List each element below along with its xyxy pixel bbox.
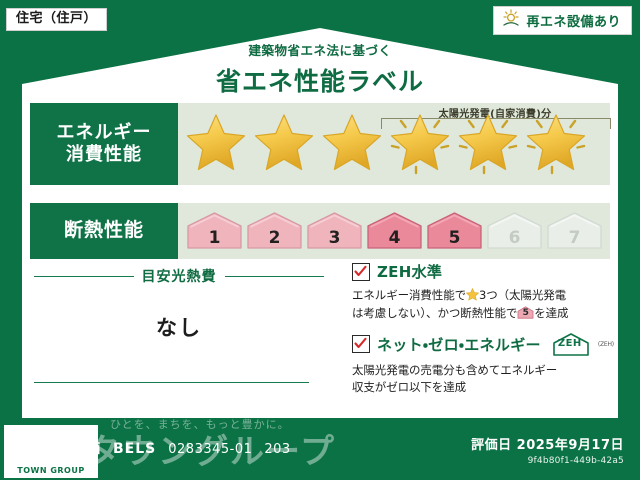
insulation-level-6: 6 <box>486 211 543 251</box>
zeh-desc-part2: は考慮しない）、かつ断熱性能で <box>352 306 517 320</box>
star-icon <box>184 112 248 176</box>
zeh-desc-part1: エネルギー消費性能で <box>352 288 466 302</box>
insulation-level-value: 4 <box>366 230 423 247</box>
footer-scheme: BELS <box>113 441 156 457</box>
renewable-badge-label: 再エネ設備あり <box>526 11 621 30</box>
building-type-tag: 住宅（住戸） <box>6 8 107 31</box>
checkbox-checked-icon[interactable] <box>352 335 370 353</box>
footer-unit-number: 203 <box>264 442 290 457</box>
net-zero-title: ネット・ゼロ・エネルギー <box>377 334 541 355</box>
footer-date-block: 評価日 2025年9月17日 9f4b80f1-449b-42a5 <box>471 434 624 466</box>
town-group-logo-text: TOWN GROUP <box>17 466 84 475</box>
rule-left <box>34 276 134 277</box>
energy-label-page: 住宅（住戸） 再エネ設備あり 建築物省エネ法に基づく 省エネ性能ラベル <box>0 0 640 480</box>
insulation-level-value: 7 <box>546 230 603 247</box>
insulation-level-value: 1 <box>186 230 243 247</box>
insulation-level-7: 7 <box>546 211 603 251</box>
certification-zeh-standard: ZEH水準 エネルギー消費性能で3つ（太陽光発電は考慮しない）、かつ断熱性能で5… <box>352 261 614 323</box>
energy-cost-heading-row: 目安光熱費 <box>34 266 324 286</box>
title-subtitle: 建築物省エネ法に基づく <box>0 40 640 59</box>
energy-performance-row: エネルギー 消費性能 太陽光発電(自家消費)分 <box>30 103 610 185</box>
insulation-level-value: 6 <box>486 230 543 247</box>
renewable-equipment-badge: 再エネ設備あり <box>493 6 632 35</box>
zeh-standard-heading: ZEH水準 <box>352 261 614 282</box>
insulation-level-value: 3 <box>306 230 363 247</box>
mini-house-value: 5 <box>517 307 534 321</box>
star-icon <box>320 112 384 176</box>
net-zero-heading: ネット・ゼロ・エネルギー ZEH (ZEH) <box>352 332 614 357</box>
energy-cost-value: なし <box>34 312 324 342</box>
certification-net-zero-energy: ネット・ゼロ・エネルギー ZEH (ZEH) 太陽光発電の売電分も含めてエネルギ… <box>352 332 614 398</box>
footer-document-id: 9f4b80f1-449b-42a5 <box>471 456 624 466</box>
zeh-desc-part3: を達成 <box>534 306 568 320</box>
label-title-block: 建築物省エネ法に基づく 省エネ性能ラベル <box>0 40 640 98</box>
insulation-level-1: 1 <box>186 211 243 251</box>
energy-star-rating <box>184 112 588 176</box>
insulation-level-scale: 1234567 <box>186 211 603 251</box>
zeh-logo-trademark: (ZEH) <box>598 341 614 348</box>
footer-date-value: 2025年9月17日 <box>517 438 624 453</box>
star-icon <box>252 112 316 176</box>
checkbox-checked-icon[interactable] <box>352 263 370 281</box>
insulation-level-3: 3 <box>306 211 363 251</box>
town-group-logo: TOWN GROUP <box>4 425 98 478</box>
energy-cost-section: 目安光熱費 なし <box>34 266 324 342</box>
insulation-level-2: 2 <box>246 211 303 251</box>
footer-evaluation-date: 評価日 2025年9月17日 <box>471 434 624 453</box>
zeh-desc-star-text: 3つ（太陽光発電 <box>479 288 566 302</box>
footer-certificate-number: 0283345-01 <box>168 442 252 457</box>
star-solar-icon <box>524 112 588 176</box>
energy-performance-label: エネルギー 消費性能 <box>30 103 178 185</box>
certification-section: ZEH水準 エネルギー消費性能で3つ（太陽光発電は考慮しない）、かつ断熱性能で5… <box>352 261 614 406</box>
energy-label-line2: 消費性能 <box>66 144 142 167</box>
insulation-level-value: 5 <box>426 230 483 247</box>
rule-right <box>225 276 325 277</box>
insulation-level-5: 5 <box>426 211 483 251</box>
insulation-level-value: 2 <box>246 230 303 247</box>
mini-star-icon <box>466 288 479 301</box>
zeh-logo-text: ZEH <box>551 338 589 349</box>
insulation-performance-label: 断熱性能 <box>30 203 178 259</box>
zeh-standard-title: ZEH水準 <box>377 261 442 282</box>
energy-stars-area: 太陽光発電(自家消費)分 <box>178 103 610 185</box>
energy-label-line1: エネルギー <box>57 122 152 145</box>
sun-icon <box>501 9 521 32</box>
energy-cost-bottom-rule <box>34 382 309 383</box>
mini-house-badge: 5 <box>517 306 534 319</box>
energy-cost-heading: 目安光熱費 <box>142 266 217 286</box>
insulation-level-4: 4 <box>366 211 423 251</box>
insulation-levels-area: 1234567 <box>178 203 610 259</box>
zeh-standard-description: エネルギー消費性能で3つ（太陽光発電は考慮しない）、かつ断熱性能で5を達成 <box>352 287 614 323</box>
title-main: 省エネ性能ラベル <box>0 62 640 98</box>
net-zero-description: 太陽光発電の売電分も含めてエネルギー収支がゼロ以下を達成 <box>352 362 614 398</box>
star-solar-icon <box>388 112 452 176</box>
footer-date-label: 評価日 <box>471 438 512 453</box>
net-zero-desc-line1: 太陽光発電の売電分も含めてエネルギー <box>352 363 557 377</box>
star-solar-icon <box>456 112 520 176</box>
net-zero-desc-line2: 収支がゼロ以下を達成 <box>352 380 466 394</box>
insulation-performance-row: 断熱性能 1234567 <box>30 203 610 259</box>
zeh-logo-icon: ZEH <box>551 332 591 357</box>
